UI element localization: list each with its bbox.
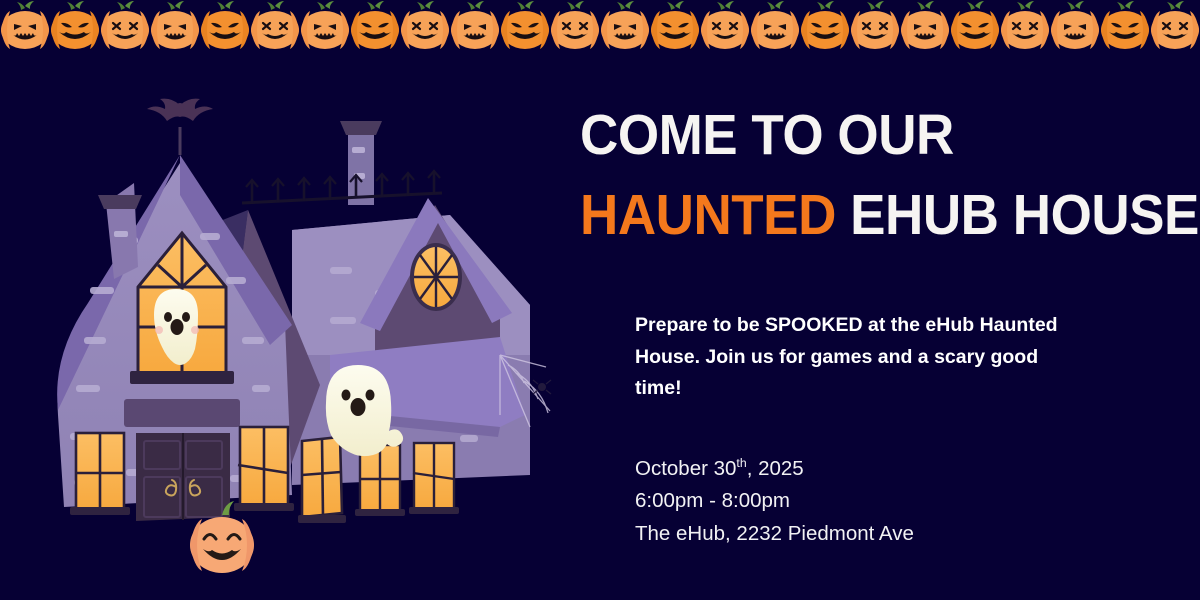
door-lintel: [124, 399, 240, 427]
event-date-prefix: October 30: [635, 457, 736, 480]
pumpkin-row: [1, 1, 1199, 49]
headline-line-1: COME TO OUR: [580, 98, 1138, 172]
event-time: 6:00pm - 8:00pm: [635, 485, 1180, 517]
headline-line-2: HAUNTED EHUB HOUSE: [580, 178, 1138, 252]
pumpkin-border: [0, 0, 1200, 56]
haunted-house-illustration: [30, 55, 560, 585]
bat-weathervane-icon: [147, 99, 213, 155]
event-details: October 30th, 2025 6:00pm - 8:00pm The e…: [635, 453, 1180, 550]
chimney-left: [98, 183, 142, 279]
headline-line-2-rest: EHUB HOUSE: [836, 183, 1199, 247]
halloween-event-flyer: COME TO OUR HAUNTED EHUB HOUSE Prepare t…: [0, 0, 1200, 600]
headline-accent-word: HAUNTED: [580, 183, 836, 247]
flyer-text-column: COME TO OUR HAUNTED EHUB HOUSE Prepare t…: [580, 98, 1180, 550]
event-location: The eHub, 2232 Piedmont Ave: [635, 518, 1180, 550]
event-date-ordinal: th: [736, 456, 746, 470]
body-copy: Prepare to be SPOOKED at the eHub Haunte…: [635, 310, 1065, 405]
chimney-right: [340, 121, 382, 205]
event-date-suffix: , 2025: [747, 457, 804, 480]
event-date: October 30th, 2025: [635, 453, 1180, 485]
roof-iron-fence: [242, 171, 442, 203]
front-double-door[interactable]: [136, 433, 230, 521]
